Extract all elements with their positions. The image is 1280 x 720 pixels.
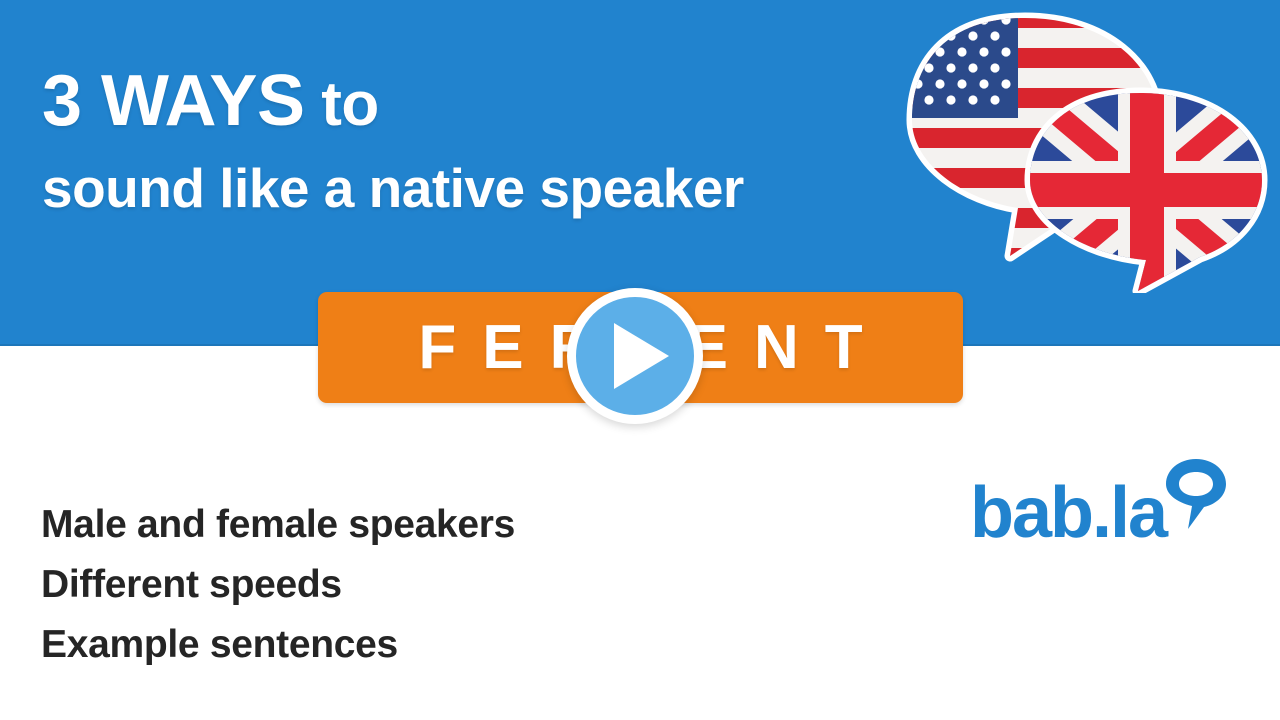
list-item: Example sentences bbox=[41, 615, 515, 675]
headline-kicker-tail: to bbox=[304, 70, 378, 139]
headline-kicker: 3 WAYS bbox=[42, 61, 304, 141]
list-item: Different speeds bbox=[41, 555, 515, 615]
feature-list: Male and female speakers Different speed… bbox=[41, 495, 515, 675]
headline-line-2: sound like a native speaker bbox=[42, 158, 902, 218]
headline-block: 3 WAYS to sound like a native speaker bbox=[42, 62, 902, 218]
uk-flag-speech-bubble bbox=[1020, 83, 1275, 293]
play-triangle-icon bbox=[614, 323, 669, 389]
play-button[interactable] bbox=[567, 288, 703, 424]
list-item: Male and female speakers bbox=[41, 495, 515, 555]
babla-logo[interactable]: bab.la bbox=[970, 455, 1230, 560]
video-frame: 3 WAYS to sound like a native speaker bbox=[0, 0, 1280, 720]
babla-wordmark: bab.la bbox=[970, 477, 1166, 549]
flag-bubbles-group bbox=[890, 8, 1280, 293]
headline-line-1: 3 WAYS to bbox=[42, 62, 902, 144]
speech-bubble-icon bbox=[1162, 455, 1230, 538]
